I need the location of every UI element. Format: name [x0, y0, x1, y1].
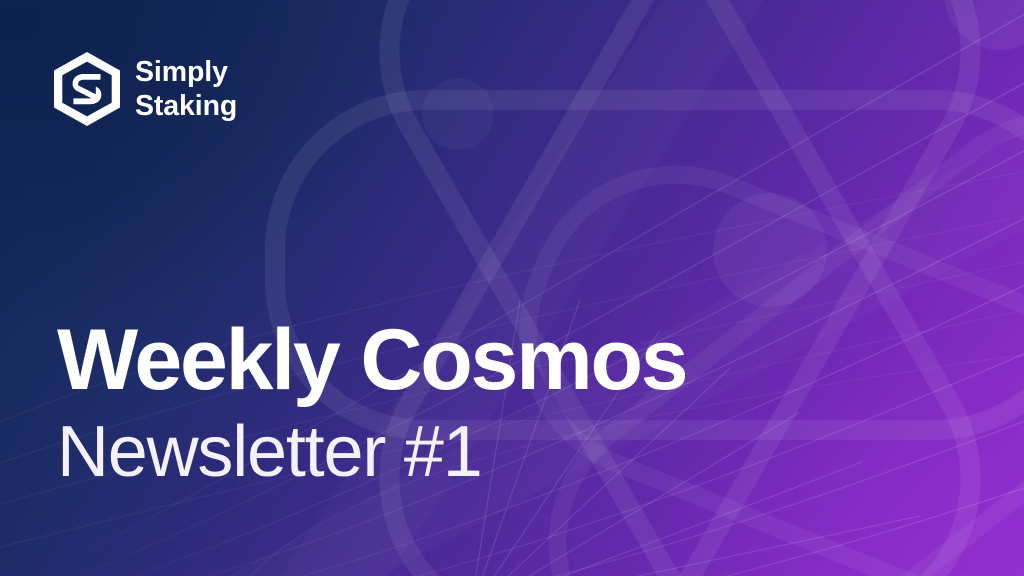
- page-subtitle: Newsletter #1: [57, 416, 686, 488]
- brand-name-line-1: Simply: [135, 55, 237, 89]
- newsletter-banner: Simply Staking Weekly Cosmos Newsletter …: [0, 0, 1024, 576]
- page-title: Weekly Cosmos: [57, 318, 686, 402]
- brand-wordmark: Simply Staking: [135, 55, 237, 123]
- brand-name-line-2: Staking: [135, 89, 237, 123]
- brand-logo[interactable]: Simply Staking: [54, 52, 237, 126]
- simply-staking-hexagon-s-logo-icon: [54, 52, 120, 126]
- headline-block: Weekly Cosmos Newsletter #1: [57, 318, 686, 488]
